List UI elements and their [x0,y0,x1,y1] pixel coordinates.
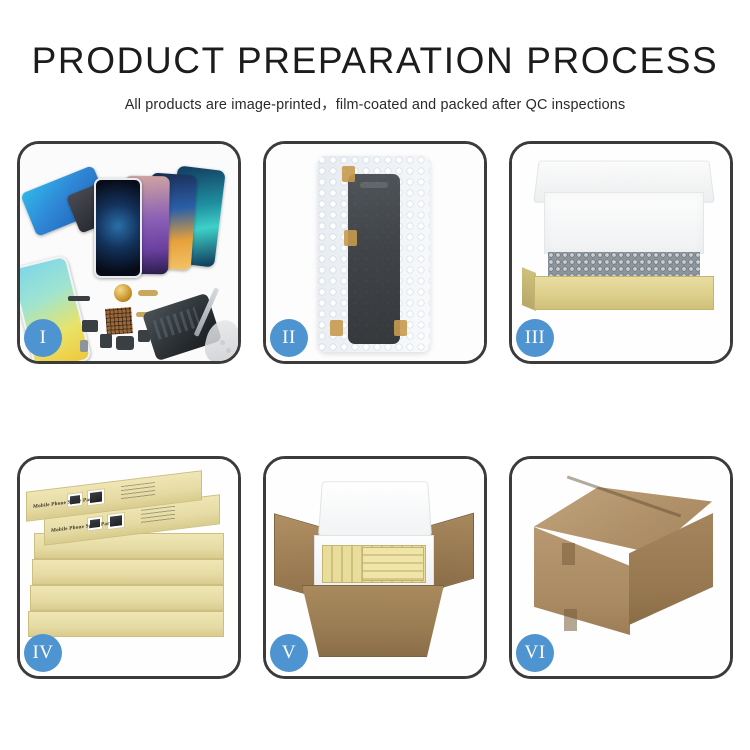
tape-mid [344,230,357,246]
stack-box-bottom-3 [32,559,224,585]
page-title: PRODUCT PREPARATION PROCESS [0,42,750,79]
stack-box-bottom-4 [30,585,224,611]
part-speaker [116,336,134,350]
step-panel-1: I [17,141,241,364]
header: PRODUCT PREPARATION PROCESS All products… [0,0,750,114]
box-front-panel [534,276,714,310]
box-label-mid: Mobile Phone Spare Parts [51,520,114,534]
tape-top [342,166,355,182]
carton-tape-lower [564,609,577,631]
step-panel-4: Mobile Phone Spare Parts Mobile Phone Sp… [17,456,241,679]
box-label-top: Mobile Phone Spare Parts [33,496,96,510]
stack-box-bottom-5 [28,611,224,637]
copper-chip-part [105,307,133,335]
bubble-wrap-contents [548,252,700,278]
box-text-lines-mid [141,506,175,525]
carton-tape-upper [562,543,575,565]
box-text-lines-top [121,482,155,501]
phone-front-dark [94,178,142,278]
step-badge-4: IV [24,634,62,672]
part-bar-1 [68,296,90,301]
step-panel-6: VI [509,456,733,679]
product-preparation-infographic: PRODUCT PREPARATION PROCESS All products… [0,0,750,750]
carton-body [302,585,444,657]
yellow-boxes-inside-2 [362,547,424,581]
tape-bottom-left [330,320,343,336]
wrapped-screen [348,174,400,344]
tape-bottom-right [394,320,407,336]
step-badge-3: III [516,319,554,357]
process-step-grid: I II [17,141,733,679]
step-badge-2: II [270,319,308,357]
step-panel-3: III [509,141,733,364]
step-badge-6: VI [516,634,554,672]
step-badge-1: I [24,319,62,357]
part-small-1 [80,340,88,352]
step-badge-5: V [270,634,308,672]
step-panel-5: V [263,456,487,679]
step-panel-2: II [263,141,487,364]
foam-sheet [544,192,704,254]
flex-cable-1 [138,290,158,296]
coil-part [114,284,132,302]
foam-cooler-lid [318,481,432,536]
part-bracket-2 [100,334,112,348]
part-bracket-1 [82,320,98,332]
page-subtitle: All products are image-printed，film-coat… [0,93,750,114]
